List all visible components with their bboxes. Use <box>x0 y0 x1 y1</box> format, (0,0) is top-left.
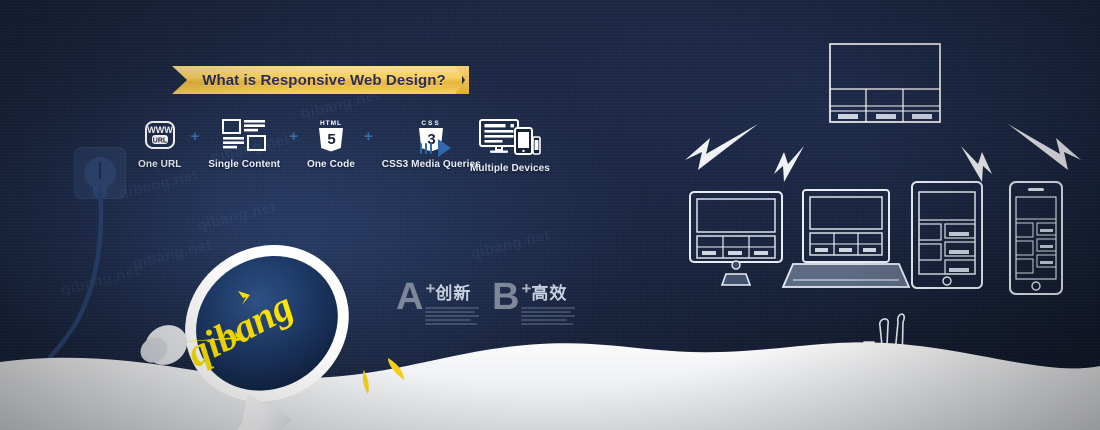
headline-ribbon: What is Responsive Web Design? <box>172 66 462 94</box>
arrow-icon <box>961 146 992 182</box>
device-laptop <box>783 190 909 287</box>
flow-arrow-icon <box>420 139 451 157</box>
formula-item-label: One URL <box>138 159 181 170</box>
multiple-devices-icon <box>479 118 541 156</box>
svg-text:5: 5 <box>327 131 335 148</box>
plug-slot <box>99 162 101 179</box>
page-title: What is Responsive Web Design? <box>188 72 446 89</box>
watermark: qibang.net <box>469 226 552 262</box>
light-sparks <box>358 352 418 402</box>
svg-text:HTML: HTML <box>320 120 342 127</box>
device-smartphone <box>1010 182 1062 294</box>
arrow-head <box>438 139 451 157</box>
svg-text:WWW: WWW <box>147 125 173 135</box>
feature-title: 创新 <box>435 284 471 303</box>
motion-line <box>425 143 427 154</box>
formula-result-label: Multiple Devices <box>470 163 550 174</box>
formula-item-single-content: Single Content <box>208 118 280 170</box>
device-desktop-monitor <box>690 192 782 285</box>
formula-separator: + <box>289 128 298 145</box>
arrow-icon <box>1008 124 1081 170</box>
banner-stage: qibang.net qibang.net qibang.net qibang.… <box>0 0 1100 430</box>
motion-line <box>430 143 432 154</box>
formula-separator: + <box>364 128 373 145</box>
formula-result-multiple-devices: Multiple Devices <box>470 118 550 174</box>
arrow-icon <box>774 146 804 182</box>
svg-text:CSS: CSS <box>422 120 441 127</box>
single-content-icon <box>222 118 266 152</box>
feature-plus: + <box>425 279 435 298</box>
formula-item-label: Single Content <box>208 159 280 170</box>
motion-line <box>420 143 422 154</box>
formula-separator: + <box>190 128 199 145</box>
formula-item-label: One Code <box>307 159 355 170</box>
svg-text:URL: URL <box>153 137 168 144</box>
desktop-wireframe <box>830 44 940 122</box>
url-icon: WWW URL <box>143 118 177 152</box>
feature-title: 高效 <box>531 284 567 303</box>
html5-shield-icon: HTML 5 <box>315 118 347 152</box>
formula-item-label: CSS3 Media Queries <box>382 159 481 170</box>
device-tablet <box>912 182 982 288</box>
formula-item-one-code: HTML 5 One Code <box>307 118 355 170</box>
formula-item-one-url: WWW URL One URL <box>138 118 181 170</box>
light-bulb: qibang <box>118 245 398 430</box>
responsive-devices-diagram <box>680 42 1090 302</box>
feature-plus: + <box>521 279 531 298</box>
arrow-icon <box>685 124 758 170</box>
